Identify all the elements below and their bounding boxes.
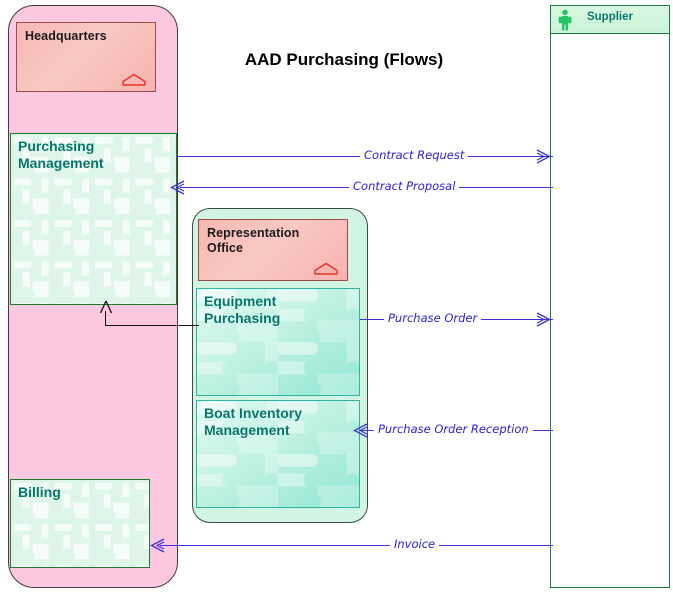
flow-invoice-label: Invoice xyxy=(390,537,439,551)
actor-supplier-label: Supplier xyxy=(551,11,669,23)
page-title: AAD Purchasing (Flows) xyxy=(204,50,484,70)
flow-arrowhead-left-icon xyxy=(170,180,186,195)
entity-headquarters[interactable]: Headquarters xyxy=(16,22,156,92)
process-billing-label: Billing xyxy=(18,484,61,501)
process-equipment-purchasing-label: Equipment Purchasing xyxy=(204,293,280,327)
process-purchasing-management[interactable]: Purchasing Management xyxy=(10,133,177,305)
flow-arrowhead-right-icon xyxy=(535,149,551,164)
flow-arrowhead-left-icon xyxy=(150,538,166,553)
process-purchasing-management-label: Purchasing Management xyxy=(18,138,104,172)
connector-arrowhead-up-icon xyxy=(99,300,113,314)
flow-arrowhead-right-icon xyxy=(535,312,551,327)
flow-arrowhead-left-icon xyxy=(353,423,369,438)
house-icon xyxy=(313,262,339,275)
flow-purchase-order-reception-label: Purchase Order Reception xyxy=(374,422,533,436)
process-billing[interactable]: Billing xyxy=(10,479,150,568)
process-equipment-purchasing[interactable]: Equipment Purchasing xyxy=(196,288,360,396)
entity-representation-office[interactable]: Representation Office xyxy=(198,219,348,281)
process-boat-inventory-management-label: Boat Inventory Management xyxy=(204,405,302,439)
flow-purchase-order-label: Purchase Order xyxy=(384,311,481,325)
entity-representation-office-label: Representation Office xyxy=(207,226,299,256)
house-icon xyxy=(121,73,147,86)
diagram-canvas: AAD Purchasing (Flows) Headquarters Purc… xyxy=(0,0,673,597)
process-boat-inventory-management[interactable]: Boat Inventory Management xyxy=(196,400,360,508)
actor-supplier[interactable]: Supplier xyxy=(550,5,670,588)
flow-invoice-line xyxy=(160,545,553,546)
flow-contract-request-label: Contract Request xyxy=(360,148,468,162)
flow-contract-proposal-label: Contract Proposal xyxy=(349,179,459,193)
entity-headquarters-label: Headquarters xyxy=(25,29,107,44)
connector-equipment-to-purchasing-horizontal xyxy=(105,325,199,326)
